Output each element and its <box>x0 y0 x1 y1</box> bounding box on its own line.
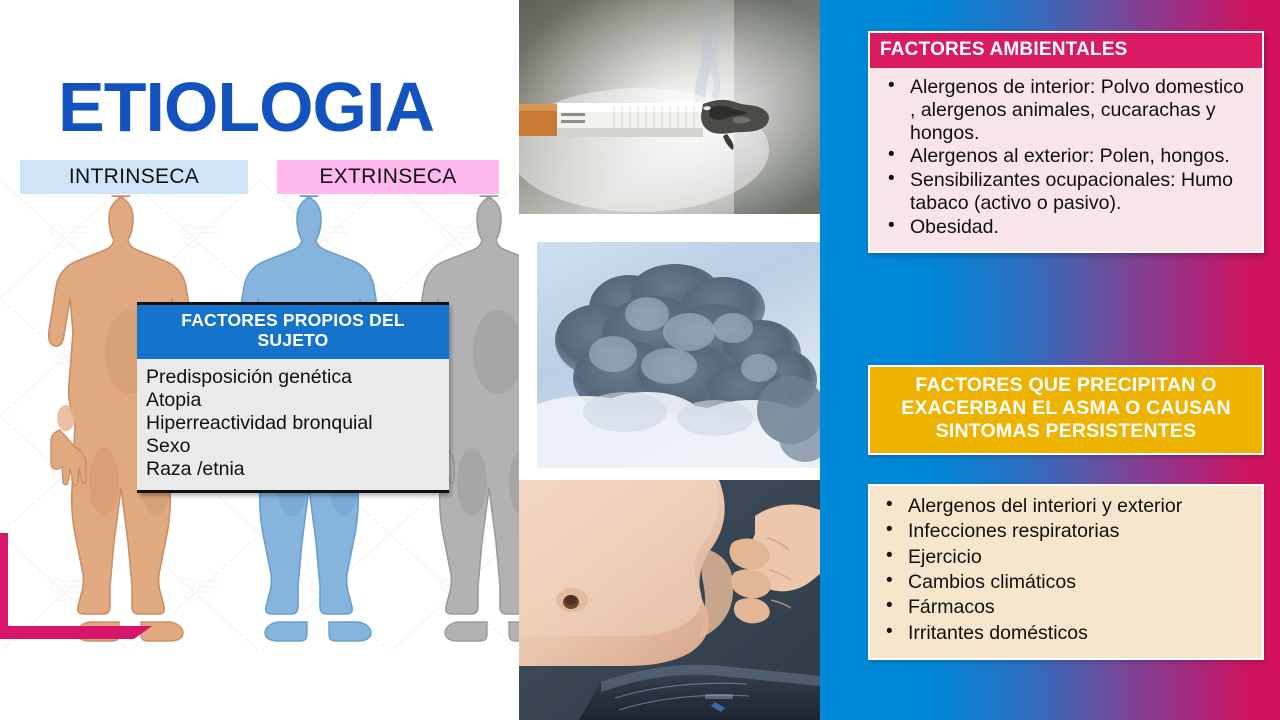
box-factores-propios: FACTORES PROPIOS DEL SUJETO Predisposici… <box>137 302 449 493</box>
precipitan-list: Alergenos del interiori y exterior Infec… <box>874 495 1252 644</box>
box-factores-propios-body: Predisposición genética Atopia Hiperreac… <box>137 359 449 490</box>
tag-extrinseca: EXTRINSECA <box>277 160 499 194</box>
list-item: Hiperreactividad bronquial <box>146 412 449 435</box>
list-item: Raza /etnia <box>146 458 449 481</box>
list-item: Fármacos <box>874 596 1252 619</box>
slide-canvas: ETIOLOGIA INTRINSECA EXTRINSECA <box>0 0 1280 720</box>
ambientales-list: Alergenos de interior: Polvo domestico ,… <box>876 76 1252 239</box>
box-factores-propios-header: FACTORES PROPIOS DEL SUJETO <box>137 305 449 359</box>
page-title: ETIOLOGIA <box>58 72 434 142</box>
right-gradient-panel: FACTORES AMBIENTALES Alergenos de interi… <box>820 0 1280 720</box>
list-item: Infecciones respiratorias <box>874 520 1252 543</box>
list-item: Irritantes domésticos <box>874 622 1252 645</box>
card-factores-precipitan-body: Alergenos del interiori y exterior Infec… <box>868 484 1264 660</box>
list-item: Alergenos del interiori y exterior <box>874 495 1252 518</box>
smoke-plume-photo <box>537 242 820 468</box>
list-item: Alergenos al exterior: Polen, hongos. <box>876 145 1252 168</box>
cigarette-photo <box>519 0 820 214</box>
card-factores-precipitan-header: FACTORES QUE PRECIPITAN O EXACERBAN EL A… <box>868 365 1264 455</box>
left-panel: ETIOLOGIA INTRINSECA EXTRINSECA <box>0 0 520 720</box>
abdominal-obesity-photo <box>519 480 820 720</box>
list-item: Predisposición genética <box>146 366 449 389</box>
card-factores-ambientales-body: Alergenos de interior: Polvo domestico ,… <box>870 68 1262 251</box>
list-item: Ejercicio <box>874 546 1252 569</box>
list-item: Cambios climáticos <box>874 571 1252 594</box>
tag-intrinseca: INTRINSECA <box>20 160 248 194</box>
list-item: Obesidad. <box>876 216 1252 239</box>
list-item: Sexo <box>146 435 449 458</box>
card-factores-ambientales: FACTORES AMBIENTALES Alergenos de interi… <box>868 31 1264 253</box>
list-item: Alergenos de interior: Polvo domestico ,… <box>876 76 1252 144</box>
list-item: Sensibilizantes ocupacionales: Humo taba… <box>876 169 1252 215</box>
image-column <box>519 0 820 720</box>
card-factores-ambientales-header: FACTORES AMBIENTALES <box>870 33 1262 68</box>
list-item: Atopia <box>146 389 449 412</box>
